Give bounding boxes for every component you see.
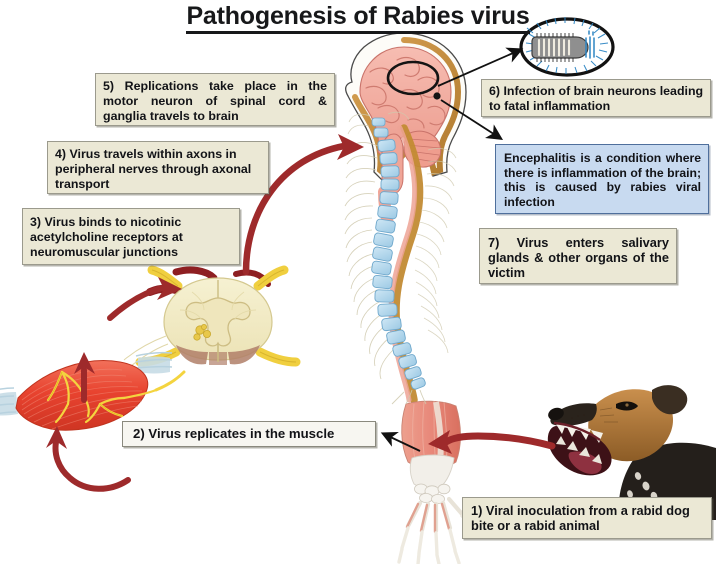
step-3-callout: 3) Virus binds to nicotinic acetylcholin…: [22, 208, 240, 265]
step-4-text: 4) Virus travels within axons in periphe…: [55, 147, 261, 191]
step-2-text: 2) Virus replicates in the muscle: [133, 426, 369, 442]
page-title-text: Pathogenesis of Rabies virus: [186, 2, 529, 34]
skeletal-muscle: [0, 353, 184, 431]
step-2-callout: 2) Virus replicates in the muscle: [122, 421, 376, 447]
step-5-callout: 5) Replications take place in the motor …: [95, 73, 335, 126]
step-1-text: 1) Viral inoculation from a rabid dog bi…: [471, 503, 705, 533]
step-5-text: 5) Replications take place in the motor …: [103, 79, 327, 123]
rabies-pathogenesis-diagram: Pathogenesis of Rabies virus 5) Replicat…: [0, 0, 716, 564]
step-6-text: 6) Infection of brain neurons leading to…: [489, 84, 704, 114]
step-7-callout: 7) Virus enters salivary glands & other …: [479, 228, 677, 284]
step-6-callout: 6) Infection of brain neurons leading to…: [481, 79, 711, 117]
step-7-text: 7) Virus enters salivary glands & other …: [488, 235, 669, 281]
step-3-text: 3) Virus binds to nicotinic acetylcholin…: [30, 215, 232, 259]
arrow-dog-to-arm: [428, 430, 552, 454]
page-title: Pathogenesis of Rabies virus: [0, 2, 716, 34]
step-1-callout: 1) Viral inoculation from a rabid dog bi…: [462, 497, 712, 539]
spinal-cord-cross-section: [124, 270, 296, 370]
arrow-arm-to-muscle: [46, 426, 128, 489]
encephalitis-note-text: Encephalitis is a condition where there …: [504, 151, 701, 209]
step-4-callout: 4) Virus travels within axons in periphe…: [47, 141, 269, 194]
encephalitis-note: Encephalitis is a condition where there …: [495, 144, 709, 214]
